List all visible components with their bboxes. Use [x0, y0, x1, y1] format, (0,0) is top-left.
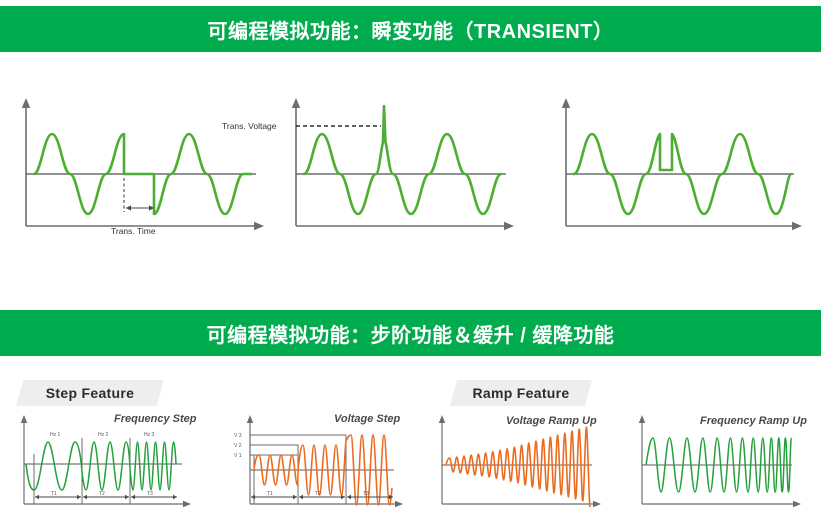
v3-label: V 3 — [234, 433, 242, 439]
waveform-surge — [304, 106, 501, 214]
t3-label: T3 — [147, 491, 153, 497]
x-axis-arrow-icon — [395, 501, 403, 507]
y-axis-arrow-icon — [292, 98, 300, 108]
hz-3-label: Hz 3 — [144, 432, 155, 438]
t2-label: T2 — [99, 491, 105, 497]
t3-arrow-left-icon — [131, 495, 135, 499]
axis-group — [292, 98, 514, 230]
v2-label: V 2 — [234, 443, 242, 449]
y-axis-arrow-icon — [21, 415, 27, 423]
frequency-ramp-up-title: Frequency Ramp Up — [700, 415, 807, 427]
voltage-ramp-up-title: Voltage Ramp Up — [506, 415, 597, 427]
trans-voltage-label: Trans. Voltage — [222, 121, 277, 131]
feature-tag-step: Step Feature — [16, 380, 164, 406]
t2-arrow-right-icon — [341, 495, 345, 499]
chart-transient-notch — [548, 86, 816, 236]
banner-title-step-ramp: 可编程模拟功能：步阶功能＆缓升 / 缓降功能 — [207, 319, 615, 348]
t2-label: T2 — [315, 491, 321, 497]
t2-arrow-left-icon — [83, 495, 87, 499]
waveform-voltage-ramp-up — [446, 427, 590, 507]
chart-voltage-step: Voltage Step V 3 V 2 V 1 T1 T2 T3 — [222, 408, 422, 520]
chart-frequency-step: Frequency Step Hz 1 Hz 2 Hz 3 T1 T2 T3 — [10, 408, 210, 520]
waveform-frequency-step — [26, 442, 176, 490]
chart-transient-surge: Trans. Voltage — [218, 86, 538, 236]
t1-arrow-right-icon — [77, 495, 81, 499]
v1-label: V 1 — [234, 453, 242, 459]
banner-title-transient: 可编程模拟功能：瞬变功能（TRANSIENT） — [208, 15, 614, 44]
trans-time-label: Trans. Time — [111, 226, 156, 236]
voltage-step-title: Voltage Step — [334, 413, 400, 425]
t3-arrow-right-icon — [173, 495, 177, 499]
chart-frequency-ramp-up: Frequency Ramp Up — [628, 408, 818, 520]
y-axis-arrow-icon — [639, 415, 645, 423]
t1-label: T1 — [267, 491, 273, 497]
dimension-arrow-left-icon — [126, 205, 131, 210]
feature-tag-step-label: Step Feature — [46, 385, 134, 401]
section-banner-transient: 可编程模拟功能：瞬变功能（TRANSIENT） — [0, 6, 821, 52]
t1-arrow-right-icon — [293, 495, 297, 499]
y-axis-arrow-icon — [22, 98, 30, 108]
hz-1-label: Hz 1 — [50, 432, 61, 438]
t1-label: T1 — [51, 491, 57, 497]
feature-tag-ramp: Ramp Feature — [450, 380, 592, 406]
t3-label: T3 — [363, 491, 369, 497]
frequency-step-title: Frequency Step — [114, 413, 197, 425]
t3-arrow-left-icon — [347, 495, 351, 499]
section-banner-step-ramp: 可编程模拟功能：步阶功能＆缓升 / 缓降功能 — [0, 310, 821, 356]
t2-arrow-right-icon — [125, 495, 129, 499]
y-axis-arrow-icon — [247, 415, 253, 423]
x-axis-arrow-icon — [593, 501, 601, 507]
hz-2-label: Hz 2 — [98, 432, 109, 438]
feature-tag-ramp-label: Ramp Feature — [473, 385, 570, 401]
y-axis-arrow-icon — [562, 98, 570, 108]
x-axis-arrow-icon — [792, 222, 802, 230]
t2-arrow-left-icon — [299, 495, 303, 499]
t1-arrow-left-icon — [251, 495, 255, 499]
y-axis-arrow-icon — [439, 415, 445, 423]
x-axis-arrow-icon — [504, 222, 514, 230]
t1-arrow-left-icon — [35, 495, 39, 499]
x-axis-arrow-icon — [183, 501, 191, 507]
x-axis-arrow-icon — [793, 501, 801, 507]
chart-voltage-ramp-up: Voltage Ramp Up — [428, 408, 618, 520]
